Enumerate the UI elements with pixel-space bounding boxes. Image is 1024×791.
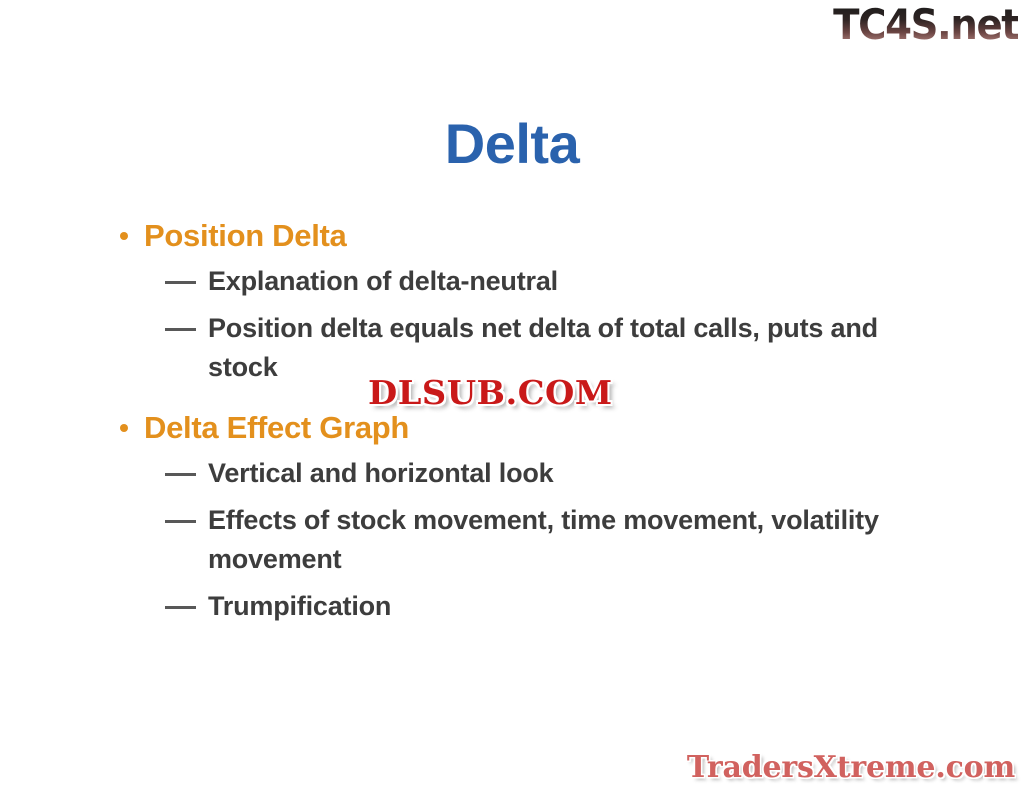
tc4s-watermark: TC4S.net [833, 2, 1018, 48]
bullet-level2-label: Vertical and horizontal look [208, 458, 553, 488]
bullet-dot-icon [120, 232, 128, 240]
bullet-level1-label: Delta Effect Graph [144, 410, 409, 445]
tradersxtreme-watermark: TradersXtreme.com [687, 751, 1015, 785]
bullet-level2-vertical-horizontal: Vertical and horizontal look [108, 454, 908, 493]
em-dash-icon [165, 328, 196, 331]
bullet-dot-icon [120, 424, 128, 432]
bullet-level1-delta-effect-graph: Delta Effect Graph [108, 408, 908, 448]
slide-canvas: TC4S.net Delta Position Delta Explanatio… [0, 0, 1024, 791]
em-dash-icon [165, 606, 196, 609]
dlsub-watermark: DLSUB.COM [368, 374, 613, 412]
em-dash-icon [165, 473, 196, 476]
em-dash-icon [165, 281, 196, 284]
bullet-level2-label: Effects of stock movement, time movement… [208, 505, 879, 574]
em-dash-icon [165, 520, 196, 523]
bullet-level2-label: Trumpification [208, 591, 391, 621]
bullet-level2-trumpification: Trumpification [108, 587, 908, 626]
bullet-level2-explanation: Explanation of delta-neutral [108, 262, 908, 301]
bullet-level2-label: Position delta equals net delta of total… [208, 313, 878, 382]
bullet-level2-label: Explanation of delta-neutral [208, 266, 558, 296]
bullet-level1-position-delta: Position Delta [108, 216, 908, 256]
slide-body-outline: Position Delta Explanation of delta-neut… [108, 216, 908, 634]
slide-title: Delta [0, 113, 1024, 175]
bullet-level1-label: Position Delta [144, 218, 347, 253]
bullet-level2-effects-of-stock-movement: Effects of stock movement, time movement… [108, 501, 908, 579]
